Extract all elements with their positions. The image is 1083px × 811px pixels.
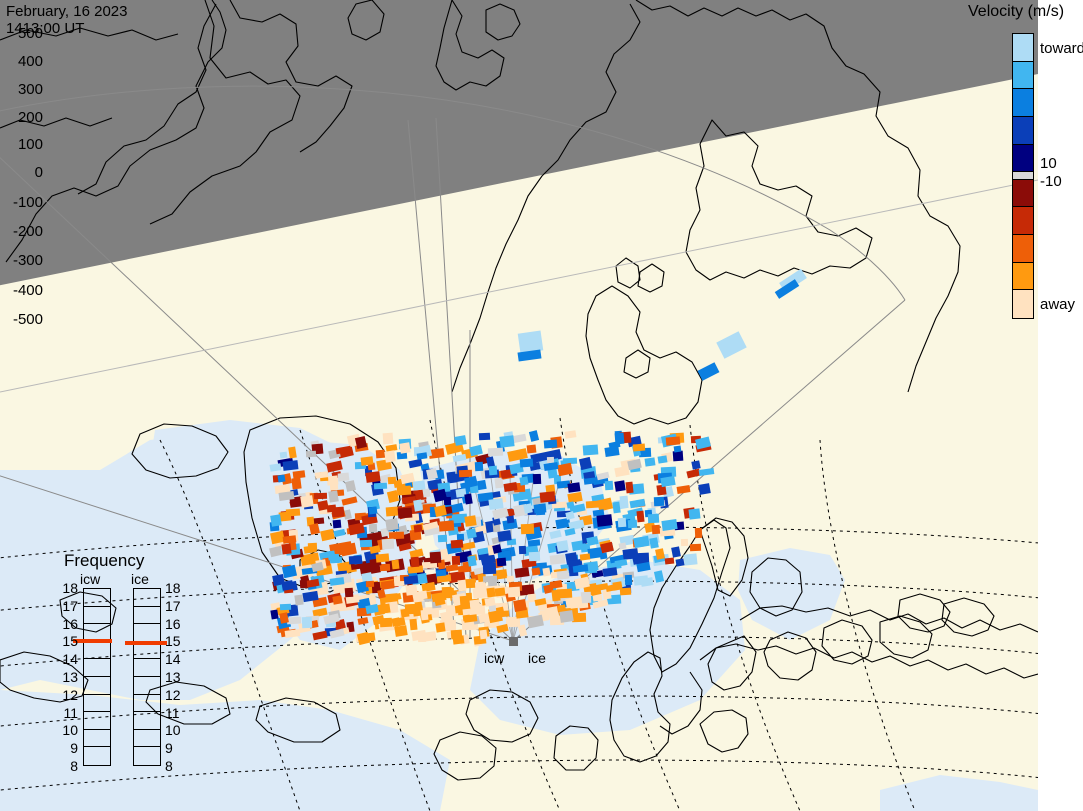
frequency-scale-ice <box>133 588 161 766</box>
velocity-cell <box>411 557 420 568</box>
velocity-cell <box>438 535 447 542</box>
velocity-cell <box>399 442 410 453</box>
velocity-cell <box>579 457 592 470</box>
velocity-cell <box>317 500 329 511</box>
frequency-cell <box>134 589 160 607</box>
velocity-cell <box>499 435 514 448</box>
velocity-cell <box>654 570 664 582</box>
velocity-cell <box>596 514 612 527</box>
velocity-cell <box>523 503 533 513</box>
velocity-cell <box>677 485 691 494</box>
frequency-cell <box>84 659 110 677</box>
frequency-cell <box>84 589 110 607</box>
velocity-cell <box>398 507 413 518</box>
frequency-cell <box>84 677 110 695</box>
velocity-cell <box>361 456 374 465</box>
right-margin <box>1038 0 1083 811</box>
velocity-cell <box>645 457 656 466</box>
velocity-cell <box>340 543 357 557</box>
velocity-cell <box>628 520 637 529</box>
velocity-cell <box>665 558 675 565</box>
velocity-cell <box>349 556 362 565</box>
velocity-cell <box>654 497 664 506</box>
velocity-cell <box>464 494 472 505</box>
frequency-tick-label: 12 <box>165 688 181 702</box>
velocity-cell <box>633 444 646 452</box>
frequency-tick-label: 14 <box>56 652 78 666</box>
velocity-cell <box>382 604 390 614</box>
velocity-cell <box>567 482 580 493</box>
velocity-cell <box>467 555 477 566</box>
velocity-cell <box>489 466 498 476</box>
velocity-cell <box>272 574 285 586</box>
velocity-cell <box>309 523 320 535</box>
velocity-cell <box>698 483 711 495</box>
velocity-cell <box>486 588 495 598</box>
velocity-cell <box>280 452 288 459</box>
frequency-tick-label: 9 <box>165 741 173 755</box>
colorbar-tick-label: 100 <box>18 137 43 152</box>
velocity-cell <box>483 563 496 574</box>
velocity-cell <box>531 567 540 575</box>
velocity-cell <box>457 580 466 592</box>
colorbar-bottom-label: away <box>1040 297 1075 312</box>
velocity-cell <box>494 478 503 489</box>
velocity-cell <box>600 542 614 554</box>
velocity-cell <box>374 483 387 490</box>
velocity-cell <box>380 618 392 628</box>
colorbar-near-zero-upper: 10 <box>1040 156 1057 171</box>
velocity-cell <box>615 559 628 567</box>
velocity-cell <box>479 630 487 640</box>
velocity-cell <box>291 477 301 489</box>
colorbar-tick-label: -500 <box>13 312 43 327</box>
frequency-cell <box>134 695 160 713</box>
frequency-cell <box>84 695 110 713</box>
velocity-cell <box>633 536 649 548</box>
velocity-cell <box>674 446 682 453</box>
velocity-cell <box>479 433 490 441</box>
colorbar-segment <box>1013 263 1033 291</box>
colorbar-segment <box>1013 172 1033 179</box>
velocity-cell <box>369 507 378 515</box>
velocity-cell <box>390 593 401 601</box>
velocity-cell <box>661 519 677 531</box>
frequency-tick-label: 12 <box>56 688 78 702</box>
velocity-cell <box>666 436 681 445</box>
velocity-cell <box>540 491 556 502</box>
velocity-cell <box>270 609 278 619</box>
colorbar-segment <box>1013 207 1033 235</box>
velocity-cell <box>514 567 529 578</box>
radar-fan-plot: February, 16 20231413:00 UT Velocity (m/… <box>0 0 1083 811</box>
velocity-cell <box>270 514 282 526</box>
velocity-cell <box>484 597 495 607</box>
frequency-cell <box>134 624 160 642</box>
velocity-cell <box>600 552 608 559</box>
frequency-tick-label: 15 <box>165 634 181 648</box>
velocity-cell <box>527 445 537 454</box>
velocity-cell <box>536 509 545 516</box>
velocity-cell <box>517 349 541 361</box>
velocity-cell <box>419 591 427 600</box>
velocity-cell <box>314 493 327 500</box>
velocity-cell <box>675 558 684 566</box>
frequency-scale-label-ice: ice <box>131 571 149 587</box>
frequency-tick-label: 13 <box>56 670 78 684</box>
frequency-cell <box>134 730 160 748</box>
frequency-tick-label: 14 <box>165 652 181 666</box>
velocity-cell <box>413 480 426 490</box>
velocity-cell <box>614 480 625 491</box>
velocity-cell <box>657 455 667 463</box>
velocity-cell <box>435 622 445 632</box>
radar-label-ice: ice <box>528 650 546 666</box>
velocity-cell <box>328 490 339 502</box>
frequency-tick-label: 10 <box>56 723 78 737</box>
velocity-cell <box>649 537 659 548</box>
velocity-cell <box>415 602 423 610</box>
velocity-cell <box>285 629 301 638</box>
colorbar-tick-label: -200 <box>13 224 43 239</box>
velocity-cell <box>569 596 582 608</box>
velocity-cell <box>466 528 477 539</box>
colorbar-title: Velocity (m/s) <box>968 3 1064 21</box>
velocity-cell <box>451 540 464 549</box>
frequency-tick-label: 10 <box>165 723 181 737</box>
velocity-cell <box>583 444 599 455</box>
frequency-panel-title: Frequency <box>64 551 144 571</box>
colorbar-tick-label: 200 <box>18 110 43 125</box>
velocity-cell <box>329 629 344 639</box>
velocity-cell <box>280 604 291 611</box>
velocity-cell <box>557 463 573 477</box>
velocity-cell <box>394 625 407 637</box>
velocity-cell <box>332 507 345 518</box>
velocity-cell <box>469 599 480 609</box>
velocity-cell <box>288 447 297 459</box>
frequency-cell <box>84 730 110 748</box>
velocity-cell <box>327 551 335 561</box>
velocity-cell <box>358 617 369 625</box>
velocity-cell <box>527 615 544 629</box>
velocity-cell <box>544 440 558 449</box>
velocity-cell <box>520 458 534 467</box>
frequency-tick-label: 11 <box>56 706 78 720</box>
velocity-cell <box>414 525 423 533</box>
velocity-cell <box>683 553 697 565</box>
velocity-cell <box>615 433 625 445</box>
velocity-cell <box>549 530 561 539</box>
velocity-cell <box>384 450 396 462</box>
velocity-cell <box>698 362 720 380</box>
velocity-cell <box>342 496 358 505</box>
velocity-cell <box>618 518 627 528</box>
frequency-cell <box>134 712 160 730</box>
velocity-cell <box>385 518 398 531</box>
velocity-cell <box>546 606 559 619</box>
frequency-cell <box>84 642 110 660</box>
velocity-cell <box>397 486 412 496</box>
velocity-cell <box>283 460 299 471</box>
velocity-cell <box>386 507 399 517</box>
velocity-cell <box>270 463 282 472</box>
frequency-tick-label: 8 <box>165 759 173 773</box>
colorbar-tick-label: -300 <box>13 253 43 268</box>
velocity-cell <box>580 553 591 560</box>
colorbar-tick-label: 500 <box>18 26 43 41</box>
radar-station-marker <box>509 637 518 646</box>
velocity-cell <box>333 520 342 529</box>
frequency-scale-icw <box>83 588 111 766</box>
velocity-cell <box>625 575 632 585</box>
velocity-cell <box>495 611 509 618</box>
colorbar-near-zero-lower: -10 <box>1040 174 1062 189</box>
timestamp-date: February, 16 2023 <box>6 3 127 20</box>
velocity-cell <box>660 476 675 487</box>
frequency-tick-label: 8 <box>56 759 78 773</box>
velocity-cell <box>557 589 572 599</box>
velocity-cell <box>369 524 377 532</box>
frequency-cell <box>84 607 110 625</box>
velocity-cell <box>381 580 395 590</box>
velocity-cell <box>439 520 455 531</box>
frequency-cell <box>134 677 160 695</box>
frequency-tick-label: 17 <box>56 599 78 613</box>
velocity-cell <box>418 633 426 642</box>
velocity-cell <box>405 584 417 595</box>
colorbar-segment <box>1013 145 1033 173</box>
frequency-cell <box>84 712 110 730</box>
colorbar-segment <box>1013 180 1033 208</box>
velocity-cell <box>648 514 659 524</box>
velocity-cell <box>281 543 291 554</box>
velocity-cell <box>417 452 428 459</box>
velocity-cell <box>559 610 573 623</box>
velocity-cell <box>513 599 527 612</box>
velocity-cell <box>300 495 314 508</box>
frequency-tick-label: 15 <box>56 634 78 648</box>
colorbar-segment <box>1013 89 1033 117</box>
frequency-tick-label: 18 <box>165 581 181 595</box>
velocity-cell <box>529 430 539 442</box>
frequency-marker-ice <box>125 641 167 645</box>
frequency-tick-label: 16 <box>56 617 78 631</box>
velocity-cell <box>302 617 313 628</box>
velocity-cell <box>488 448 503 457</box>
colorbar-segment <box>1013 117 1033 145</box>
velocity-cell <box>508 587 521 598</box>
velocity-cell <box>483 576 497 583</box>
velocity-cell <box>497 530 511 542</box>
velocity-cell <box>294 594 303 605</box>
velocity-cell <box>422 489 430 498</box>
frequency-tick-label: 16 <box>165 617 181 631</box>
velocity-cell <box>436 570 447 577</box>
frequency-cell <box>134 747 160 765</box>
colorbar-segment <box>1013 290 1033 318</box>
velocity-cell <box>465 579 475 588</box>
velocity-cell <box>453 635 465 644</box>
velocity-cell <box>640 577 653 587</box>
frequency-marker-icw <box>73 639 112 643</box>
frequency-cell <box>134 659 160 677</box>
colorbar-tick-label: 400 <box>18 54 43 69</box>
velocity-cell <box>392 560 400 570</box>
velocity-cell <box>345 588 354 598</box>
colorbar-segment <box>1013 235 1033 263</box>
velocity-cell <box>636 562 650 572</box>
velocity-cell <box>382 539 395 550</box>
velocity-cell <box>413 499 423 511</box>
velocity-cell <box>521 524 534 535</box>
velocity-cell <box>460 596 470 606</box>
colorbar-top-label: toward <box>1040 41 1083 56</box>
velocity-cell <box>278 475 286 483</box>
velocity-cell <box>630 499 646 509</box>
velocity-cell <box>464 515 476 526</box>
velocity-cell <box>636 511 644 523</box>
velocity-cell <box>365 471 380 483</box>
velocity-cell <box>306 451 316 457</box>
velocity-cell <box>398 543 411 552</box>
velocity-cell <box>360 540 372 548</box>
velocity-cell <box>279 612 289 623</box>
velocity-cell <box>671 546 681 557</box>
velocity-cell <box>383 433 394 445</box>
velocity-cell <box>355 436 367 449</box>
colorbar-segment <box>1013 62 1033 90</box>
velocity-colorbar <box>1012 33 1034 319</box>
velocity-cell <box>519 476 528 485</box>
velocity-cell <box>529 552 540 561</box>
velocity-cell <box>519 546 526 554</box>
velocity-cell <box>488 498 503 510</box>
velocity-cell <box>550 554 566 564</box>
velocity-cell <box>533 474 541 484</box>
velocity-cell <box>565 430 577 439</box>
velocity-cell <box>655 548 665 559</box>
frequency-tick-label: 11 <box>165 706 180 720</box>
velocity-cell <box>564 528 575 536</box>
velocity-cell <box>681 539 688 546</box>
velocity-cell <box>586 501 599 509</box>
velocity-cell <box>475 462 484 471</box>
velocity-cell <box>421 610 429 621</box>
velocity-cell <box>557 570 570 579</box>
velocity-cell <box>528 539 541 546</box>
frequency-cell <box>134 607 160 625</box>
velocity-cell <box>446 564 459 572</box>
velocity-cell <box>625 482 633 494</box>
velocity-cell <box>604 446 619 457</box>
colorbar-tick-label: 300 <box>18 82 43 97</box>
frequency-cell <box>84 747 110 765</box>
velocity-cell <box>338 472 350 481</box>
velocity-cell <box>496 624 508 633</box>
velocity-cell <box>716 331 746 358</box>
velocity-cell <box>286 508 300 516</box>
velocity-cell <box>620 496 629 507</box>
velocity-cell <box>366 581 374 587</box>
velocity-cell <box>430 552 442 564</box>
velocity-cell <box>518 624 527 636</box>
velocity-cell <box>409 619 417 631</box>
frequency-tick-label: 17 <box>165 599 181 613</box>
velocity-cell <box>345 480 356 492</box>
velocity-cell <box>690 544 701 551</box>
velocity-cell <box>377 589 386 598</box>
velocity-cell <box>581 592 592 604</box>
velocity-cell <box>542 568 550 577</box>
velocity-cell <box>454 435 466 446</box>
velocity-cell <box>556 540 569 552</box>
velocity-cell <box>332 595 342 604</box>
frequency-tick-label: 9 <box>56 741 78 755</box>
velocity-cell <box>695 528 702 538</box>
velocity-cell <box>605 481 614 491</box>
velocity-cell <box>300 580 308 588</box>
colorbar-segment <box>1013 34 1033 62</box>
velocity-cell <box>333 529 345 537</box>
velocity-cell <box>565 511 574 520</box>
colorbar-tick-label: -100 <box>13 195 43 210</box>
velocity-cell <box>312 631 327 641</box>
velocity-cell <box>507 516 515 524</box>
radar-label-icw: icw <box>484 650 504 666</box>
velocity-cell <box>699 468 715 476</box>
velocity-cell <box>688 508 700 519</box>
velocity-cell <box>495 587 506 596</box>
velocity-cell <box>376 553 390 562</box>
velocity-cell <box>497 558 507 567</box>
frequency-scale-label-icw: icw <box>80 571 100 587</box>
frequency-tick-label: 13 <box>165 670 181 684</box>
velocity-cell <box>453 454 467 462</box>
velocity-cell <box>612 581 622 590</box>
colorbar-tick-label: 0 <box>35 165 43 180</box>
velocity-cell <box>357 632 370 645</box>
frequency-tick-label: 18 <box>56 581 78 595</box>
colorbar-tick-label: -400 <box>13 283 43 298</box>
